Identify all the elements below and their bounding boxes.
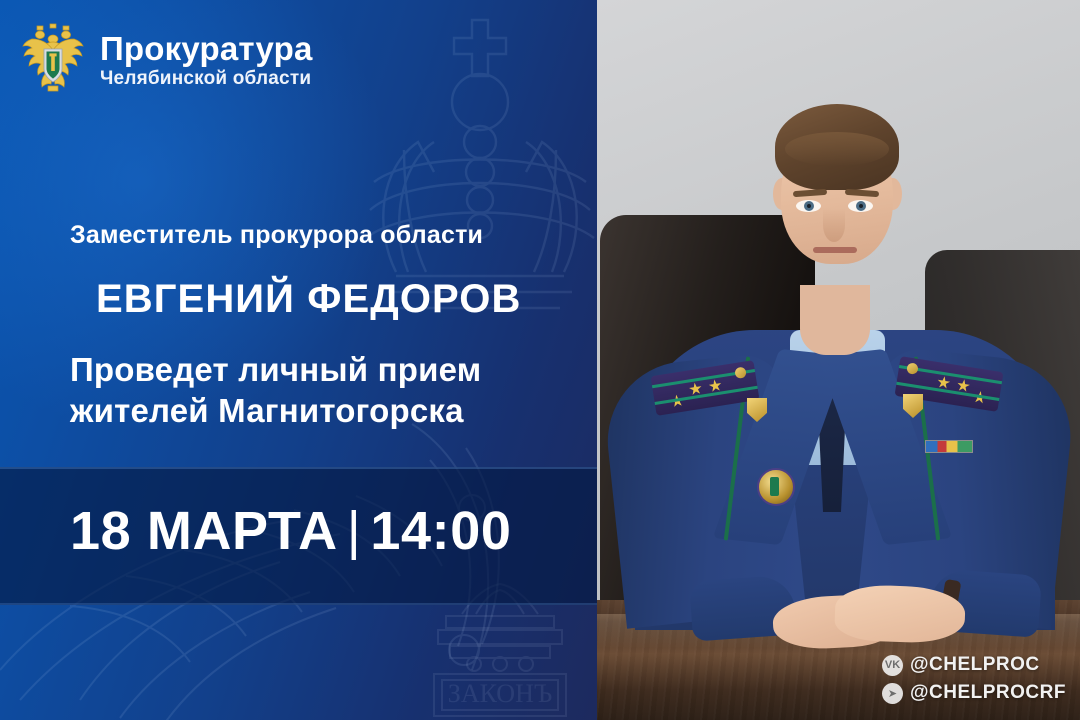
eye-right xyxy=(848,200,873,212)
hair xyxy=(775,104,899,190)
epaulette-button xyxy=(734,366,747,379)
rank-star xyxy=(972,390,987,405)
event-datetime: 18 МАРТА|14:00 xyxy=(70,500,512,562)
social-row-vk[interactable]: VK @CHELPROC xyxy=(882,654,1066,676)
telegram-icon: ➤ xyxy=(882,683,903,704)
description-line-2: жителей Магнитогорска xyxy=(70,391,481,432)
neck xyxy=(800,285,870,355)
datetime-separator: | xyxy=(347,500,362,562)
brand-subtitle: Челябинской области xyxy=(100,69,313,89)
vk-icon: VK xyxy=(882,655,903,676)
description-line-1: Проведет личный прием xyxy=(70,350,481,391)
official-role: Заместитель прокурора области xyxy=(70,221,483,250)
eye-left xyxy=(796,200,821,212)
event-date: 18 МАРТА xyxy=(70,501,338,561)
info-panel: ЗАКОНЪ xyxy=(0,0,597,720)
social-handles: VK @CHELPROC ➤ @CHELPROCRF xyxy=(882,648,1066,704)
rank-star xyxy=(688,382,703,397)
service-ribbon-bar xyxy=(925,440,973,453)
rank-star xyxy=(670,394,685,409)
vk-handle: @CHELPROC xyxy=(910,654,1040,676)
social-row-telegram[interactable]: ➤ @CHELPROCRF xyxy=(882,682,1066,704)
official-portrait-photo: VK @CHELPROC ➤ @CHELPROCRF xyxy=(595,0,1080,720)
prosecutor-chest-badge xyxy=(757,468,795,506)
brand-title: Прокуратура xyxy=(100,32,313,67)
announcement-description: Проведет личный прием жителей Магнитогор… xyxy=(70,350,481,432)
poster-root: VK @CHELPROC ➤ @CHELPROCRF xyxy=(0,0,1080,720)
nose xyxy=(823,208,845,242)
band-divider-bottom xyxy=(0,603,597,605)
brand-text: Прокуратура Челябинской области xyxy=(100,32,313,89)
rank-star xyxy=(956,378,971,393)
epaulette-button xyxy=(906,362,919,375)
double-headed-eagle-emblem xyxy=(18,22,88,99)
mouth xyxy=(813,247,857,253)
telegram-handle: @CHELPROCRF xyxy=(910,682,1066,704)
event-time: 14:00 xyxy=(370,501,511,561)
svg-text:ЗАКОНЪ: ЗАКОНЪ xyxy=(448,679,552,708)
brand-lockup: Прокуратура Челябинской области xyxy=(18,22,313,99)
rank-star xyxy=(708,378,723,393)
rank-star xyxy=(936,375,951,390)
official-name: ЕВГЕНИЙ ФЕДОРОВ xyxy=(96,277,522,322)
band-divider-top xyxy=(0,467,597,469)
